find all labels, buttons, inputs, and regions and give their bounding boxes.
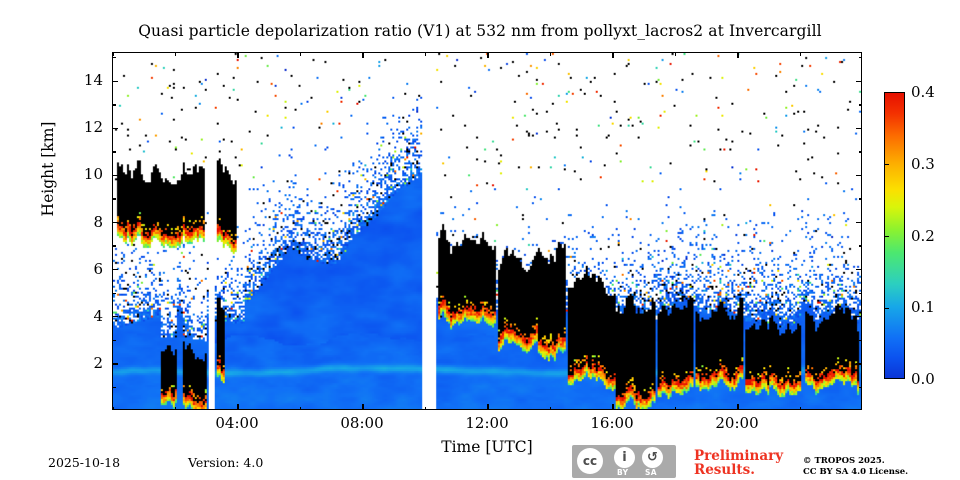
x-axis-tick — [300, 52, 301, 56]
colorbar[interactable] — [884, 92, 905, 379]
y-axis-tick — [856, 316, 862, 317]
y-axis-tick — [112, 245, 116, 246]
x-axis-tick — [175, 407, 176, 411]
y-axis-tick — [856, 128, 862, 129]
x-axis-tick — [112, 407, 113, 411]
y-tick-label: 10 — [84, 165, 103, 183]
preliminary-results-notice: Preliminary Results. — [694, 449, 783, 477]
x-tick-label: 04:00 — [215, 414, 258, 432]
y-axis-tick — [859, 340, 863, 341]
cc-by-person-icon: i — [614, 447, 635, 468]
y-tick-label: 6 — [93, 260, 103, 278]
x-axis-tick — [425, 52, 426, 56]
y-axis-tick — [859, 57, 863, 58]
colorbar-tick — [884, 236, 889, 237]
y-axis-label: Height [km] — [39, 89, 57, 249]
colorbar-tick — [884, 164, 889, 165]
x-axis-tick — [175, 52, 176, 56]
y-axis-tick — [856, 363, 862, 364]
copyright-notice: © TROPOS 2025. CC BY SA 4.0 License. — [803, 456, 908, 478]
x-axis-tick — [425, 407, 426, 411]
colorbar-tick-label: 0.1 — [911, 298, 935, 316]
footer-version: Version: 4.0 — [188, 455, 263, 470]
heatmap-canvas — [113, 53, 861, 409]
y-tick-label: 4 — [93, 307, 103, 325]
x-tick-label: 12:00 — [465, 414, 508, 432]
y-tick-label: 14 — [84, 71, 103, 89]
y-axis-tick — [112, 57, 116, 58]
y-axis-tick — [859, 245, 863, 246]
y-axis-tick — [856, 175, 862, 176]
plot-axes[interactable] — [112, 52, 862, 410]
cc-icon: cc — [577, 448, 603, 474]
y-axis-tick — [112, 151, 116, 152]
y-axis-tick — [112, 104, 116, 105]
x-axis-tick — [550, 407, 551, 411]
x-axis-tick — [237, 52, 238, 58]
copyright-line-2: CC BY SA 4.0 License. — [803, 467, 908, 478]
y-axis-tick — [112, 222, 118, 223]
y-axis-tick — [859, 198, 863, 199]
colorbar-tick — [884, 308, 889, 309]
y-axis-tick — [112, 340, 116, 341]
x-axis-tick — [237, 404, 238, 410]
y-axis-tick — [112, 269, 118, 270]
footer-date: 2025-10-18 — [48, 455, 120, 470]
y-axis-tick — [856, 269, 862, 270]
x-axis-tick — [362, 404, 363, 410]
cc-sa-label: SA — [645, 468, 657, 477]
y-tick-label: 8 — [93, 213, 103, 231]
copyright-line-1: © TROPOS 2025. — [803, 456, 908, 467]
y-axis-tick — [859, 293, 863, 294]
y-axis-tick — [112, 387, 116, 388]
preliminary-line-2: Results. — [694, 463, 783, 477]
y-axis-tick — [112, 175, 118, 176]
x-tick-label: 08:00 — [340, 414, 383, 432]
x-axis-tick — [487, 404, 488, 410]
y-axis-tick — [112, 316, 118, 317]
x-axis-tick — [675, 52, 676, 56]
x-tick-label: 16:00 — [590, 414, 633, 432]
y-axis-tick — [112, 363, 118, 364]
y-axis-tick — [856, 81, 862, 82]
colorbar-tick-label: 0.3 — [911, 155, 935, 173]
x-axis-tick — [487, 52, 488, 58]
y-axis-tick — [856, 222, 862, 223]
x-axis-tick — [737, 52, 738, 58]
y-tick-label: 12 — [84, 118, 103, 136]
x-axis-tick — [112, 52, 113, 56]
y-axis-tick — [112, 198, 116, 199]
x-axis-tick — [800, 407, 801, 411]
y-axis-tick — [859, 151, 863, 152]
x-axis-tick — [300, 407, 301, 411]
y-axis-tick — [859, 387, 863, 388]
colorbar-tick-label: 0.0 — [911, 370, 935, 388]
cc-sa-sharealike-icon: ↺ — [642, 447, 663, 468]
x-axis-tick — [362, 52, 363, 58]
x-axis-tick — [550, 52, 551, 56]
y-tick-label: 2 — [93, 354, 103, 372]
y-axis-tick — [112, 81, 118, 82]
x-axis-tick — [737, 404, 738, 410]
x-axis-tick — [612, 52, 613, 58]
page-title: Quasi particle depolarization ratio (V1)… — [0, 22, 960, 40]
preliminary-line-1: Preliminary — [694, 449, 783, 463]
y-axis-tick — [112, 128, 118, 129]
y-axis-tick — [112, 293, 116, 294]
cc-by-label: BY — [617, 468, 628, 477]
creative-commons-badge-icon[interactable]: cc i ↺ BY SA — [572, 445, 676, 478]
y-axis-tick — [859, 104, 863, 105]
x-axis-tick — [800, 52, 801, 56]
x-axis-tick — [612, 404, 613, 410]
colorbar-tick-label: 0.4 — [911, 83, 935, 101]
x-tick-label: 20:00 — [715, 414, 758, 432]
x-axis-tick — [675, 407, 676, 411]
colorbar-tick-label: 0.2 — [911, 227, 935, 245]
